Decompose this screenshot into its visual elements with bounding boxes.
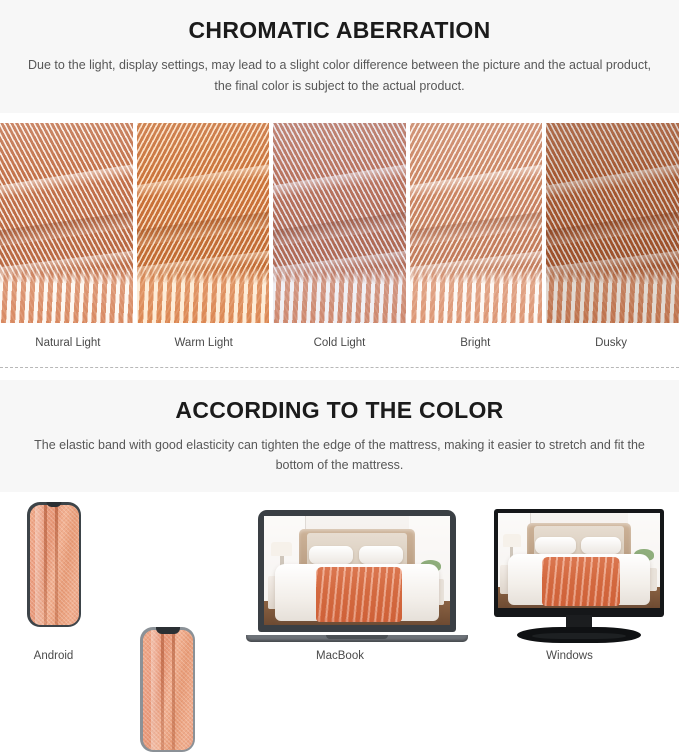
macbook-screen bbox=[264, 516, 450, 625]
section-divider bbox=[0, 367, 679, 368]
fabric-fringe bbox=[137, 267, 270, 323]
monitor-screen bbox=[498, 513, 660, 608]
iphone-camera-notch bbox=[156, 627, 180, 634]
swatch-bright bbox=[410, 123, 543, 323]
according-to-the-color-header: ACCORDING TO THE COLOR The elastic band … bbox=[0, 380, 679, 493]
scene-pillow bbox=[359, 546, 404, 565]
swatch-cold-light bbox=[273, 123, 406, 323]
lighting-swatch-strip bbox=[0, 123, 679, 323]
caption-dusky: Dusky bbox=[543, 337, 679, 349]
scene-lamp-shade bbox=[271, 542, 291, 556]
lighting-caption-row: Natural Light Warm Light Cold Light Brig… bbox=[0, 323, 679, 349]
section-title-color: ACCORDING TO THE COLOR bbox=[10, 398, 669, 423]
blanket-highlight bbox=[35, 505, 45, 625]
scene-pillow bbox=[309, 546, 354, 565]
bedroom-scene bbox=[498, 513, 660, 608]
fabric-fringe bbox=[0, 267, 133, 323]
swatch-natural-light bbox=[0, 123, 133, 323]
fabric-fringe bbox=[273, 267, 406, 323]
device-mockup-iphone bbox=[140, 627, 195, 752]
scene-lamp-shade bbox=[503, 534, 521, 547]
iphone-screen bbox=[143, 630, 193, 750]
caption-bright: Bright bbox=[407, 337, 543, 349]
according-to-the-color-description: The elastic band with good elasticity ca… bbox=[20, 435, 660, 476]
caption-natural-light: Natural Light bbox=[0, 337, 136, 349]
fabric-fringe bbox=[410, 267, 543, 323]
bedroom-scene bbox=[264, 516, 450, 625]
device-mockup-macbook bbox=[246, 510, 468, 642]
device-mockup-windows bbox=[494, 509, 664, 642]
swatch-dusky bbox=[546, 123, 679, 323]
macbook-base bbox=[246, 635, 468, 642]
caption-warm-light: Warm Light bbox=[136, 337, 272, 349]
caption-macbook: MacBook bbox=[220, 650, 460, 662]
swatch-warm-light bbox=[137, 123, 270, 323]
chromatic-aberration-description: Due to the light, display settings, may … bbox=[20, 55, 660, 96]
caption-android: Android bbox=[0, 650, 107, 662]
blanket-crease bbox=[55, 505, 58, 625]
blanket-highlight bbox=[151, 630, 161, 750]
android-screen bbox=[30, 505, 79, 625]
scene-pillow bbox=[535, 537, 576, 554]
caption-cold-light: Cold Light bbox=[272, 337, 408, 349]
device-mockup-row bbox=[0, 502, 679, 642]
device-caption-row: Android Iphone MacBook Windows bbox=[0, 642, 679, 662]
blanket-crease bbox=[172, 630, 175, 750]
scene-pillow bbox=[581, 537, 622, 554]
chromatic-aberration-header: CHROMATIC ABERRATION Due to the light, d… bbox=[0, 0, 679, 113]
macbook-lid bbox=[258, 510, 456, 632]
fabric-fringe bbox=[546, 267, 679, 323]
scene-throw-blanket bbox=[316, 567, 402, 622]
blanket-crease bbox=[161, 630, 164, 750]
device-mockup-android bbox=[27, 502, 81, 627]
monitor-bezel bbox=[494, 509, 664, 617]
scene-throw-blanket bbox=[542, 557, 620, 606]
monitor-stand-base bbox=[517, 627, 641, 643]
caption-windows: Windows bbox=[460, 650, 679, 662]
page-title: CHROMATIC ABERRATION bbox=[10, 18, 669, 43]
